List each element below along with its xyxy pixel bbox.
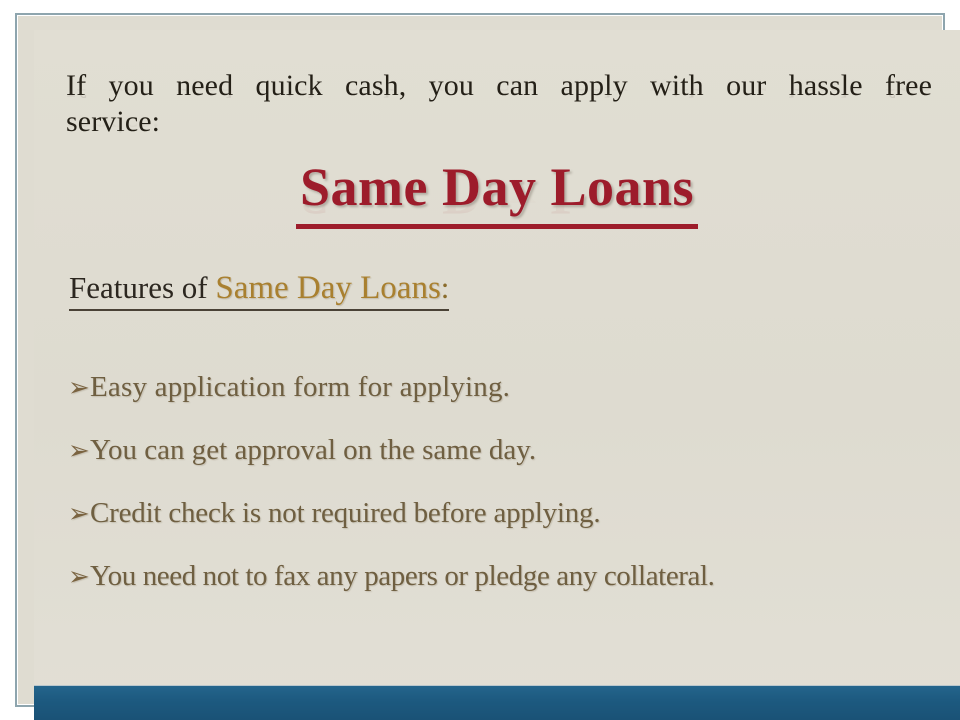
list-item-label: You can get approval on the same day. [90, 433, 536, 467]
arrow-bullet-icon: ➢ [68, 560, 90, 594]
features-heading-highlight: Same Day Loans [215, 270, 440, 306]
slide-title-container: Same Day Loans Same Day Loans [34, 156, 960, 229]
arrow-bullet-icon: ➢ [68, 497, 90, 531]
features-bullet-list: ➢ Easy application form for applying. ➢ … [68, 370, 928, 594]
intro-line-2: service: service: [66, 104, 932, 140]
slide-title: Same Day Loans Same Day Loans [296, 156, 698, 229]
arrow-bullet-icon: ➢ [68, 434, 90, 468]
list-item-label: Easy application form for applying. [90, 370, 510, 404]
intro-line-1-text: If you need quick cash, you can apply wi… [66, 69, 932, 102]
list-item: ➢ Credit check is not required before ap… [68, 496, 928, 531]
footer-accent-bar [34, 685, 960, 720]
list-item: ➢ You can get approval on the same day. [68, 433, 928, 468]
slide-title-text: Same Day Loans [300, 157, 694, 217]
features-heading-lead: Features of [69, 270, 215, 305]
list-item: ➢ You need not to fax any papers or pled… [68, 559, 928, 594]
arrow-bullet-icon: ➢ [68, 371, 90, 405]
slide-frame-border: If you need quick cash, you can apply wi… [15, 13, 945, 707]
features-heading-colon: : [441, 270, 450, 305]
presentation-slide: If you need quick cash, you can apply wi… [0, 0, 960, 720]
list-item-label: Credit check is not required before appl… [90, 496, 600, 530]
slide-content-area: If you need quick cash, you can apply wi… [34, 30, 960, 720]
intro-line-2-text: service: [66, 105, 160, 138]
list-item: ➢ Easy application form for applying. [68, 370, 928, 405]
list-item-label: You need not to fax any papers or pledge… [90, 559, 715, 593]
intro-line-2-reflection: service: [66, 104, 932, 140]
intro-line-1: If you need quick cash, you can apply wi… [66, 68, 932, 104]
features-heading: Features of Same Day Loans: [69, 268, 449, 311]
intro-paragraph: If you need quick cash, you can apply wi… [66, 68, 932, 140]
